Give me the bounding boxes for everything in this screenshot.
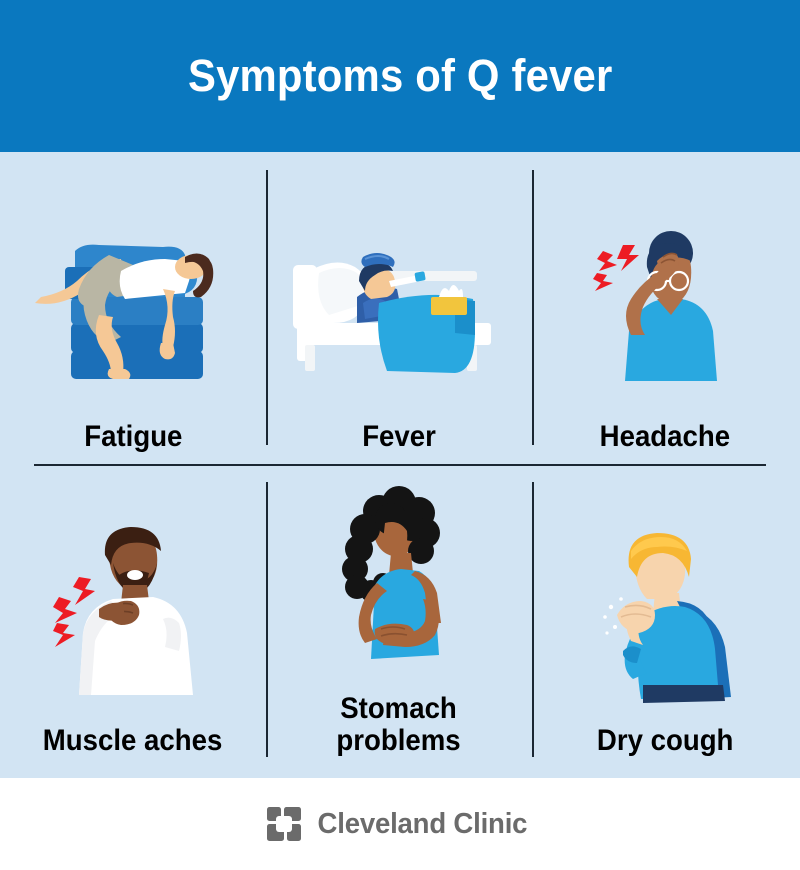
symptom-cell-stomach-problems[interactable]: Stomach problems (266, 494, 532, 756)
symptom-label: Headache (600, 421, 730, 453)
symptom-cell-headache[interactable]: Headache (532, 192, 798, 452)
header-banner: Symptoms of Q fever (0, 0, 800, 152)
symptom-cell-fever[interactable]: Fever (266, 192, 532, 452)
infographic-root: Symptoms of Q fever (0, 0, 800, 870)
horizontal-divider (34, 464, 766, 466)
symptoms-panel: Fatigue (0, 152, 800, 778)
symptom-label: Dry cough (597, 725, 733, 757)
cleveland-clinic-pinwheel-icon (267, 807, 301, 841)
stomach-problems-illustration (279, 483, 519, 683)
page-title: Symptoms of Q fever (188, 50, 612, 102)
symptom-cell-muscle-aches[interactable]: Muscle aches (0, 494, 266, 756)
cleveland-clinic-logo[interactable]: Cleveland Clinic (267, 807, 533, 841)
headache-illustration (545, 211, 785, 411)
symptom-label: Stomach problems (337, 693, 461, 756)
symptom-label: Muscle aches (43, 725, 223, 757)
fatigue-illustration (13, 211, 253, 411)
cleveland-clinic-wordmark: Cleveland Clinic (318, 808, 528, 841)
muscle-aches-illustration (13, 515, 253, 715)
symptom-label: Fatigue (84, 421, 182, 453)
symptom-cell-dry-cough[interactable]: Dry cough (532, 494, 798, 756)
footer: Cleveland Clinic (0, 778, 800, 870)
symptom-cell-fatigue[interactable]: Fatigue (0, 192, 266, 452)
fever-illustration (279, 211, 519, 411)
dry-cough-illustration (545, 515, 785, 715)
symptom-label: Fever (362, 421, 436, 453)
